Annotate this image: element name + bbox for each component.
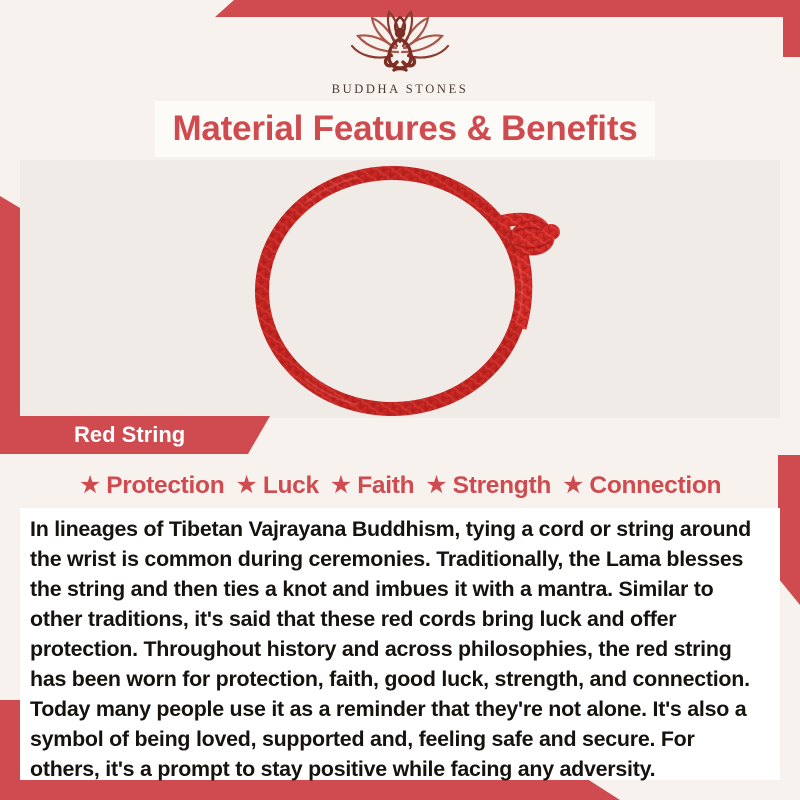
material-label: Red String: [74, 422, 185, 448]
decor-left-red-band: [0, 196, 20, 454]
description-panel: In lineages of Tibetan Vajrayana Buddhis…: [20, 508, 780, 780]
benefit-label: Strength: [453, 472, 551, 500]
benefit-item-protection: ★ Protection: [74, 472, 230, 500]
benefit-label: Protection: [106, 472, 224, 500]
product-photo-red-string-bracelet: [20, 160, 780, 418]
benefit-item-luck: ★ Luck: [230, 472, 323, 500]
star-icon: ★: [562, 473, 584, 498]
brand-logo: BUDDHA STONES: [0, 8, 800, 100]
benefit-item-connection: ★ Connection: [557, 472, 726, 500]
page-title: Material Features & Benefits: [172, 109, 637, 149]
star-icon: ★: [235, 473, 257, 498]
star-icon: ★: [330, 473, 352, 498]
benefit-label: Luck: [263, 472, 319, 500]
benefit-item-faith: ★ Faith: [325, 472, 419, 500]
material-label-banner: Red String: [20, 416, 270, 454]
lotus-meditation-icon: [334, 8, 466, 80]
benefits-list: ★ Protection ★ Luck ★ Faith ★ Strength ★…: [0, 464, 800, 508]
product-photo-area: [20, 160, 780, 418]
benefit-label: Faith: [357, 472, 414, 500]
benefit-label: Connection: [589, 472, 721, 500]
benefit-item-strength: ★ Strength: [420, 472, 556, 500]
star-icon: ★: [425, 473, 447, 498]
brand-wordmark: BUDDHA STONES: [332, 82, 469, 97]
page-title-panel: Material Features & Benefits: [155, 101, 655, 157]
star-icon: ★: [79, 473, 101, 498]
description-text: In lineages of Tibetan Vajrayana Buddhis…: [30, 514, 764, 784]
infographic-page: BUDDHA STONES Material Features & Benefi…: [0, 0, 800, 800]
